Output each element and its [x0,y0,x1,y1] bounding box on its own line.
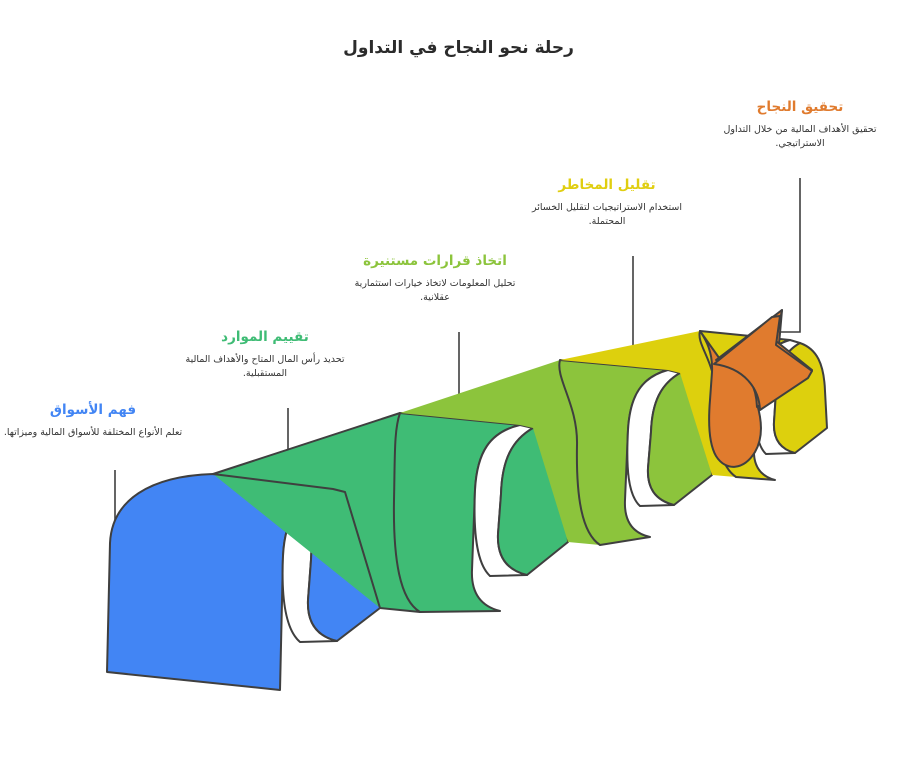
step-heading-5: تحقيق النجاح [710,99,890,116]
ribbon-front-olive-main [559,360,668,545]
step-label-5: تحقيق النجاح تحقيق الأهداف المالية من خل… [710,99,890,150]
ribbon-segment-step-4 [560,331,827,480]
arrow-tip-orange [714,316,812,410]
step-heading-1: فهم الأسواق [3,402,183,419]
ribbon-fold-green [475,425,533,576]
ribbon-back-blue [308,492,380,641]
ribbon-fold-yellow [755,340,800,454]
connector-line-step-2 [288,408,375,470]
step-heading-4: تقليل المخاطر [517,177,697,194]
connector-line-step-3 [459,332,545,415]
ribbon-segment-step-2 [213,413,568,612]
ribbon-back-olive [648,373,712,505]
connector-line-step-4 [633,256,700,360]
step-description-2: تحديد رأس المال المتاح والأهداف المالية … [175,353,355,381]
ribbon-front-yellow-main [699,331,790,480]
ribbon-top-olive [400,360,668,545]
step-label-3: اتخاذ قرارات مستنيرة تحليل المعلومات لات… [345,253,525,304]
connector-line-step-5 [772,178,800,332]
ribbon-back-green [498,428,568,575]
ribbon-segment-step-3 [400,360,712,545]
step-heading-3: اتخاذ قرارات مستنيرة [345,253,525,270]
step-description-5: تحقيق الأهداف المالية من خلال التداول ال… [710,123,890,151]
connector-lines [115,178,800,665]
ribbon-front-green-main [394,413,520,612]
step-heading-2: تقييم الموارد [175,329,355,346]
ribbon-fold-blue [283,489,345,642]
ribbon-fold-olive [627,370,680,506]
step-description-4: استخدام الاستراتيجيات لتقليل الخسائر الم… [517,201,697,229]
ribbon-front-green [213,474,380,608]
ribbon-arrow-orange [700,310,808,467]
step-label-4: تقليل المخاطر استخدام الاستراتيجيات لتقل… [517,177,697,228]
page-title: رحلة نحو النجاح في التداول [0,38,917,58]
ribbon-back-yellow [774,343,827,453]
ribbon-front-blue [107,474,333,690]
ribbon-segment-step-1 [107,474,380,690]
ribbon-top-green [213,413,520,612]
arrow-head-orange [716,310,812,407]
ribbon-top-yellow [560,331,790,477]
ribbon-segment-step-5 [700,310,812,467]
step-label-1: فهم الأسواق تعلم الأنواع المختلفة للأسوا… [3,402,183,440]
step-description-1: تعلم الأنواع المختلفة للأسواق المالية وم… [3,426,183,440]
step-label-2: تقييم الموارد تحديد رأس المال المتاح وال… [175,329,355,380]
step-description-3: تحليل المعلومات لاتخاذ خيارات استثمارية … [345,277,525,305]
